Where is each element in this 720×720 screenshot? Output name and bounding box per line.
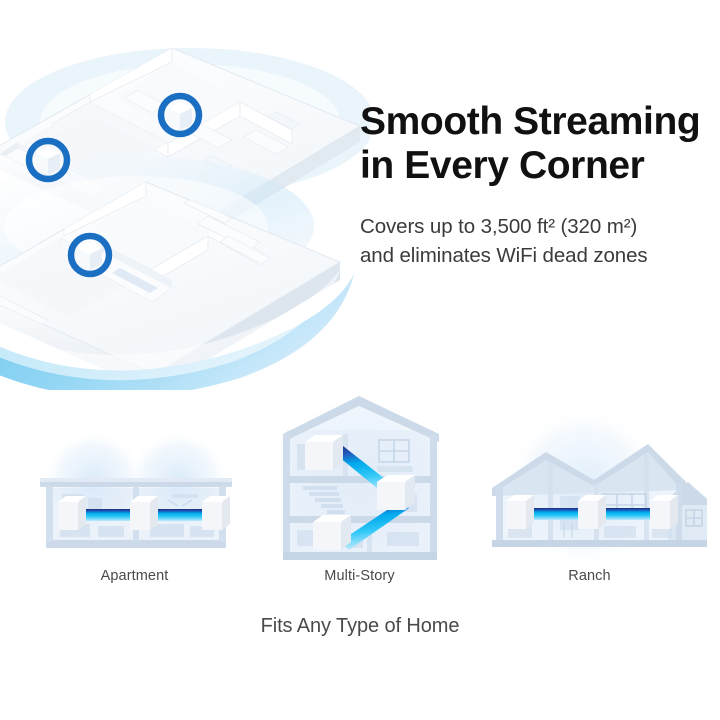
mesh-device-cube [506,495,534,529]
floorplan-illustration [0,30,370,390]
mesh-device-cube [650,495,678,529]
home-type-label-apartment: Apartment [22,568,247,584]
home-types-row: Apartment [0,390,720,600]
hero-subtitle: Covers up to 3,500 ft² (320 m²) and elim… [360,212,705,270]
home-type-label-multi-story: Multi-Story [247,568,472,584]
mesh-device-cube [202,496,230,530]
ranch-illustration [472,390,707,570]
mesh-device-cube [578,495,606,529]
mesh-device-cube [78,242,102,270]
home-types-caption: Fits Any Type of Home [0,615,720,638]
home-type-apartment: Apartment [22,390,247,570]
hero-text-block: Smooth Streaming in Every Corner Covers … [360,100,705,270]
mesh-device-cube [305,435,343,470]
mesh-device-cube [313,515,351,550]
floorplan-svg [0,30,370,390]
multi-story-illustration [247,390,472,570]
product-feature-banner: Smooth Streaming in Every Corner Covers … [0,0,720,720]
mesh-device-cube [130,496,158,530]
apartment-illustration [22,390,247,570]
home-type-label-ranch: Ranch [472,568,707,584]
mesh-device-cube [377,475,415,510]
page-title: Smooth Streaming in Every Corner [360,100,705,188]
mesh-device-cube [168,102,192,130]
home-type-ranch: Ranch [472,390,707,570]
mesh-device-cube [58,496,86,530]
home-type-multi-story: Multi-Story [247,390,472,570]
